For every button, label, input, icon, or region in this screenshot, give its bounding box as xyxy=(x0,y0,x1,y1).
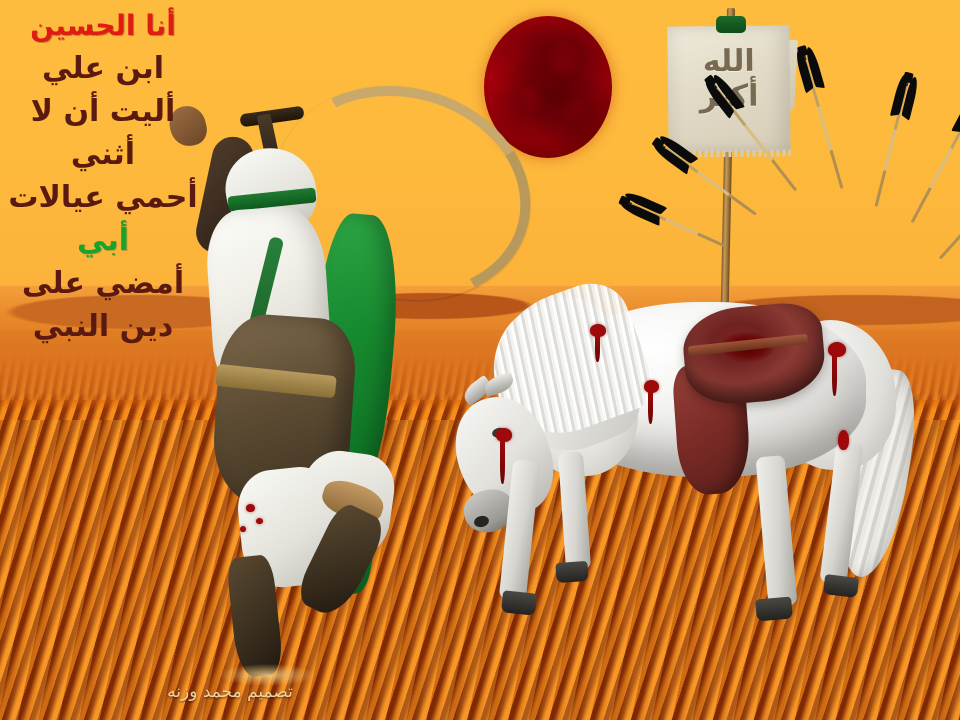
designer-signature: تصميم محمد وزنه xyxy=(0,682,460,702)
poem-line-1: أنا الحسين xyxy=(0,12,206,40)
horse-hoof-front-back xyxy=(555,561,588,583)
horse-blood-drip-2 xyxy=(500,440,505,484)
poem-text-block: أنا الحسين ابن علي أليت أن لا أثني أحمي … xyxy=(0,12,206,355)
banner-green-tie xyxy=(716,16,746,33)
poem-line-7: أمضي على xyxy=(0,269,206,299)
warrior-blood-spatter-1 xyxy=(246,504,255,512)
warrior-blood-spatter-2 xyxy=(256,518,263,524)
poem-line-5: أحمي عيالات xyxy=(0,183,206,213)
horse-blood-drip-5 xyxy=(832,354,837,396)
horse-hindleg-near xyxy=(756,455,798,607)
horse-blood-drip-1 xyxy=(595,334,600,362)
horse-blood-wound-6 xyxy=(838,430,849,450)
poem-line-6: أبي xyxy=(0,226,206,256)
horse-hoof-hind-far xyxy=(823,574,859,598)
horse-hoof-front xyxy=(501,590,537,615)
poem-line-2: ابن علي xyxy=(0,54,206,84)
poem-line-3: أليت أن لا xyxy=(0,97,206,127)
poster-canvas: الله أكبر xyxy=(0,0,960,720)
horse-blood-wound-5 xyxy=(828,342,846,357)
warrior-figure xyxy=(168,86,468,666)
poem-line-8: دين النبي xyxy=(0,312,206,342)
horse-blood-drip-3 xyxy=(648,390,653,424)
warrior-blood-spatter-3 xyxy=(240,526,246,532)
poem-line-4: أثني xyxy=(0,140,206,170)
banner-line-1: الله xyxy=(668,43,790,80)
horse-hoof-hind-near xyxy=(755,596,793,621)
